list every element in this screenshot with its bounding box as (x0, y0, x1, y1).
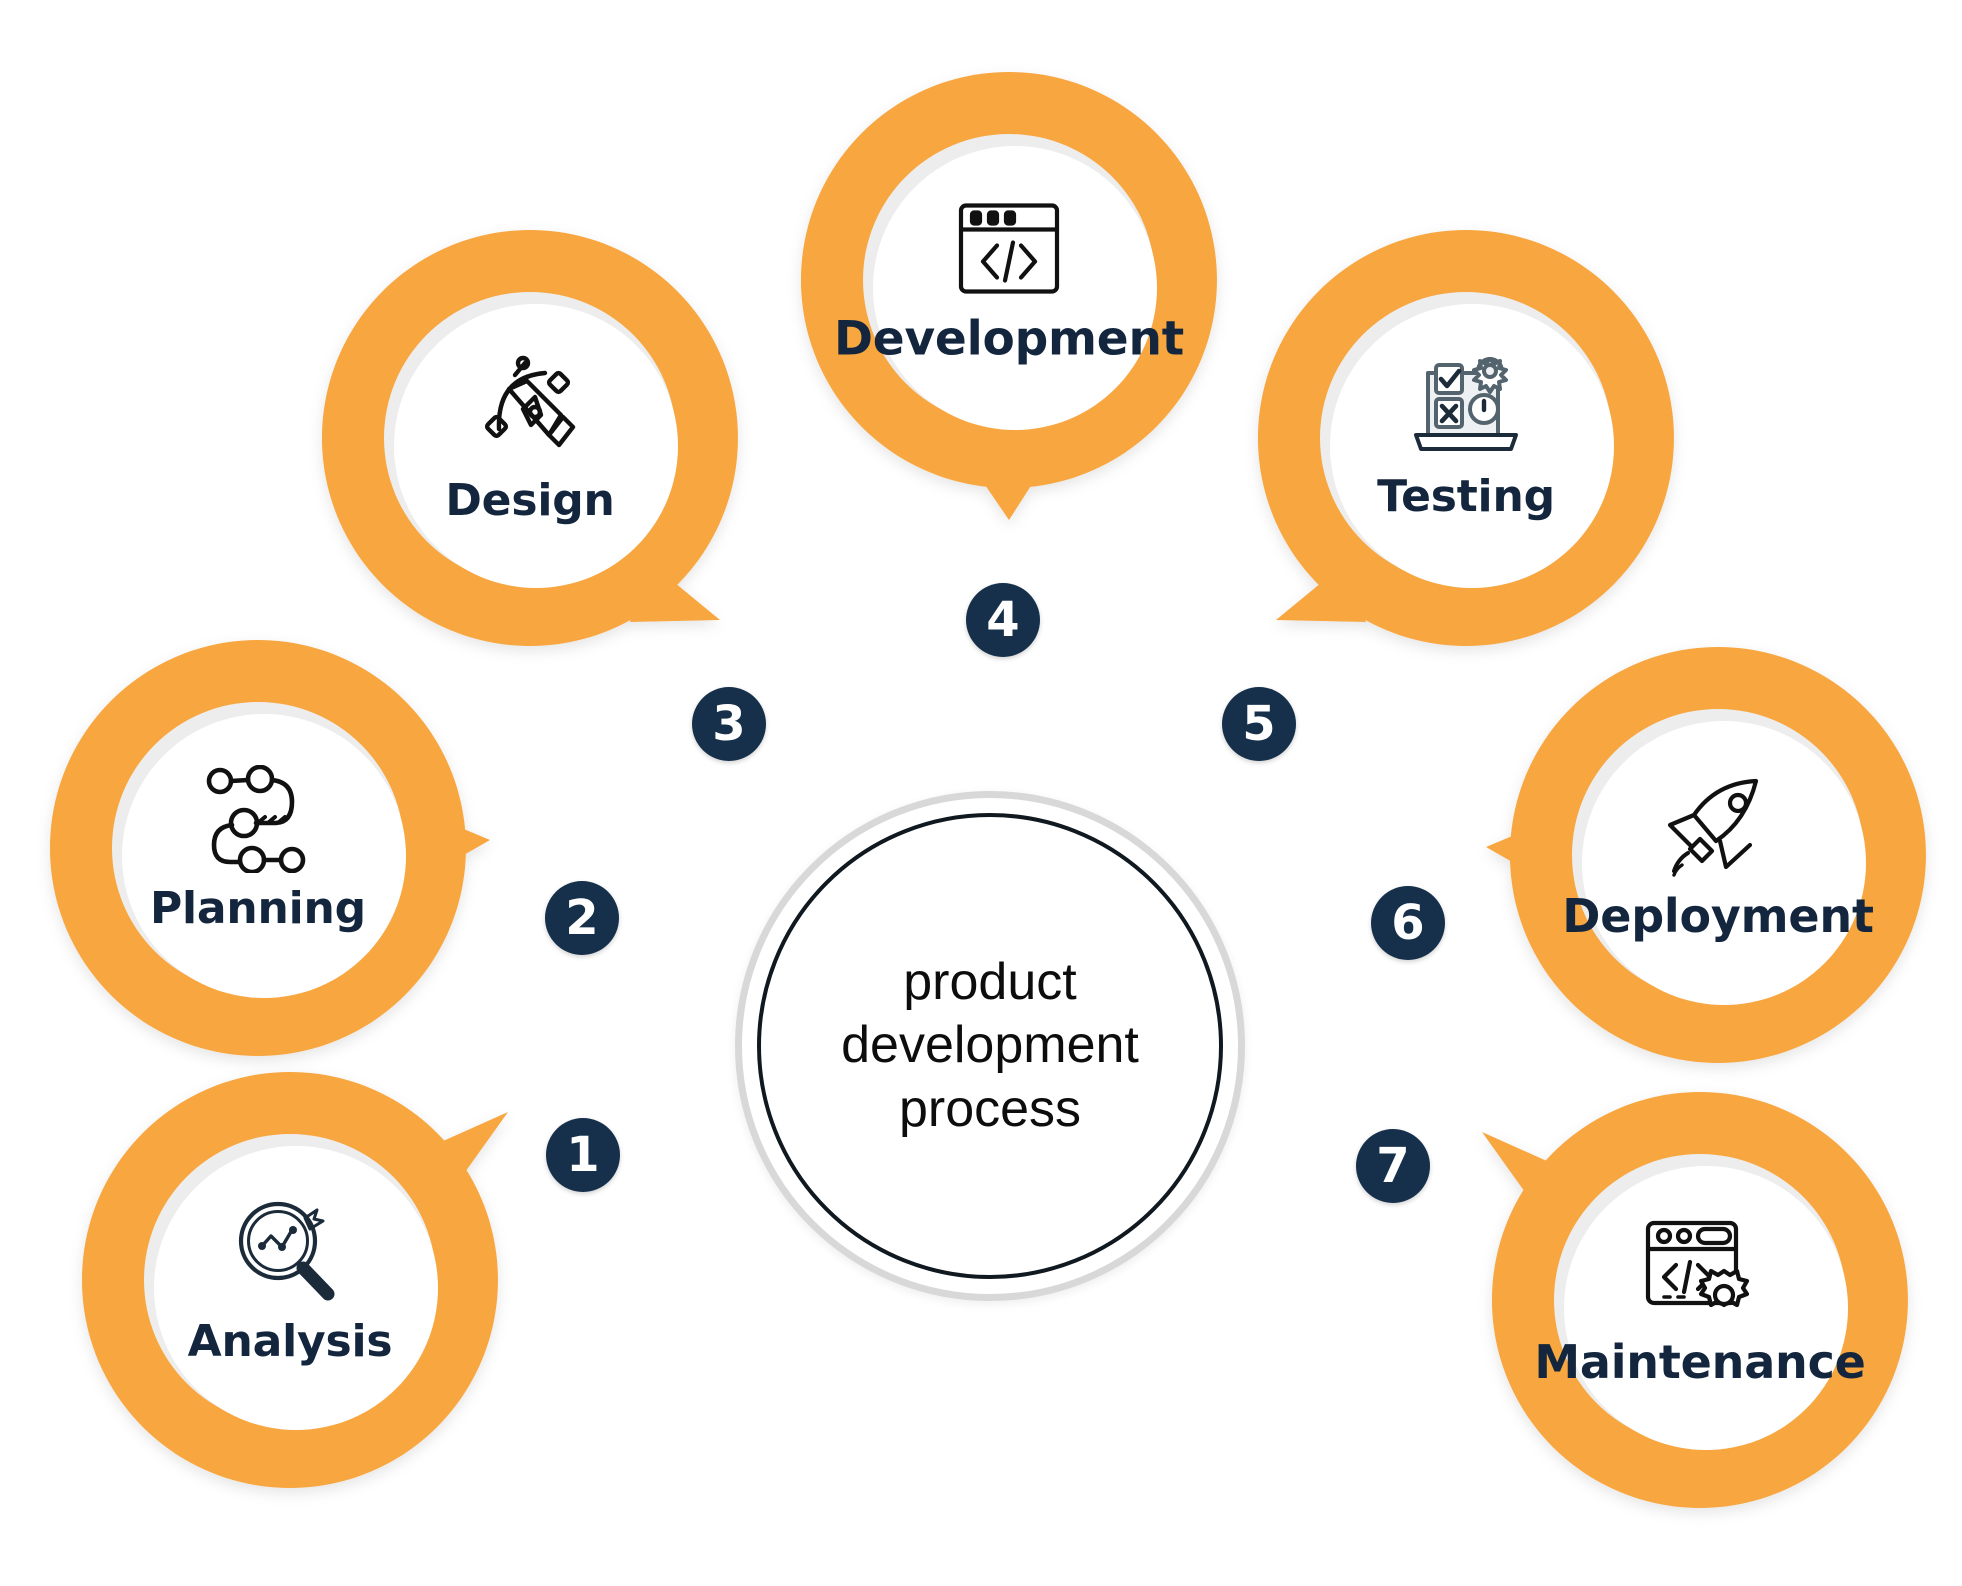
center-hub: product development process (735, 791, 1245, 1301)
maintenance-bubble-ring (1470, 1070, 1930, 1530)
step-badge-2[interactable]: 2 (545, 881, 619, 955)
testing-bubble-ring (1236, 208, 1696, 668)
center-title: product development process (815, 951, 1165, 1141)
step-badge-3[interactable]: 3 (692, 687, 766, 761)
step-badge-4[interactable]: 4 (966, 583, 1040, 657)
center-inner-ring: product development process (757, 813, 1223, 1279)
infographic-canvas: Analysis 1 P (0, 0, 1962, 1586)
deployment-bubble-ring (1488, 625, 1948, 1085)
step-badge-6[interactable]: 6 (1371, 886, 1445, 960)
development-bubble-ring (779, 50, 1239, 510)
analysis-bubble-ring (60, 1050, 520, 1510)
design-bubble-ring (300, 208, 760, 668)
planning-bubble-ring (28, 618, 488, 1078)
step-badge-5[interactable]: 5 (1222, 687, 1296, 761)
step-badge-7[interactable]: 7 (1356, 1129, 1430, 1203)
step-badge-1[interactable]: 1 (546, 1118, 620, 1192)
